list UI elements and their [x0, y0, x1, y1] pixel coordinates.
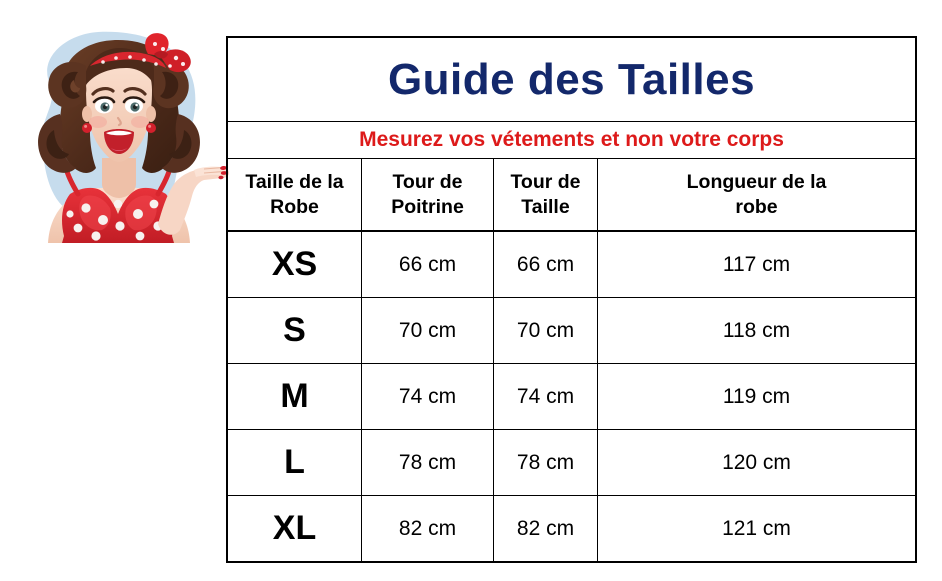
cell-waist: 66 cm — [494, 231, 598, 298]
header-line-2: robe — [735, 196, 777, 218]
cell-size: XL — [228, 496, 362, 562]
header-line-2: Taille — [521, 196, 569, 218]
pin-up-woman-illustration — [8, 18, 230, 243]
cell-size: S — [228, 298, 362, 364]
table-row: M 74 cm 74 cm 119 cm — [228, 364, 916, 430]
header-line-2: Poitrine — [391, 196, 464, 218]
table-row: S 70 cm 70 cm 118 cm — [228, 298, 916, 364]
column-header-waist: Tour de Taille — [494, 159, 598, 232]
cell-bust: 78 cm — [362, 430, 494, 496]
cell-length: 118 cm — [598, 298, 916, 364]
measure-instruction: Mesurez vos vétements et non votre corps — [359, 128, 784, 151]
column-header-bust: Tour de Poitrine — [362, 159, 494, 232]
cell-bust: 74 cm — [362, 364, 494, 430]
table-row: XS 66 cm 66 cm 117 cm — [228, 231, 916, 298]
cell-bust: 66 cm — [362, 231, 494, 298]
table-row: L 78 cm 78 cm 120 cm — [228, 430, 916, 496]
header-line-1: Taille de la — [245, 171, 343, 193]
title-row: Guide des Tailles — [228, 38, 916, 122]
page-title: Guide des Tailles — [388, 55, 755, 104]
cell-size: XS — [228, 231, 362, 298]
guide-subtitle-cell: Mesurez vos vétements et non votre corps — [228, 122, 916, 159]
header-line-1: Longueur de la — [687, 171, 827, 193]
cell-length: 120 cm — [598, 430, 916, 496]
size-guide-table: Guide des Tailles Mesurez vos vétements … — [227, 37, 916, 562]
cell-waist: 78 cm — [494, 430, 598, 496]
cell-length: 117 cm — [598, 231, 916, 298]
table-row: XL 82 cm 82 cm 121 cm — [228, 496, 916, 562]
table-header-row: Taille de la Robe Tour de Poitrine Tour … — [228, 159, 916, 232]
cell-size: L — [228, 430, 362, 496]
header-line-1: Tour de — [510, 171, 580, 193]
cell-size: M — [228, 364, 362, 430]
cell-bust: 82 cm — [362, 496, 494, 562]
guide-title-cell: Guide des Tailles — [228, 38, 916, 122]
cell-waist: 74 cm — [494, 364, 598, 430]
column-header-dress-size: Taille de la Robe — [228, 159, 362, 232]
cell-bust: 70 cm — [362, 298, 494, 364]
cell-length: 121 cm — [598, 496, 916, 562]
subtitle-row: Mesurez vos vétements et non votre corps — [228, 122, 916, 159]
header-line-2: Robe — [270, 196, 319, 218]
cell-waist: 70 cm — [494, 298, 598, 364]
neck — [102, 158, 136, 198]
column-header-dress-length: Longueur de la robe — [598, 159, 916, 232]
cell-length: 119 cm — [598, 364, 916, 430]
illustration-artwork — [38, 32, 229, 243]
cell-waist: 82 cm — [494, 496, 598, 562]
size-guide-table-container: Guide des Tailles Mesurez vos vétements … — [227, 37, 915, 554]
header-line-1: Tour de — [392, 171, 462, 193]
illustration-svg — [8, 18, 230, 243]
